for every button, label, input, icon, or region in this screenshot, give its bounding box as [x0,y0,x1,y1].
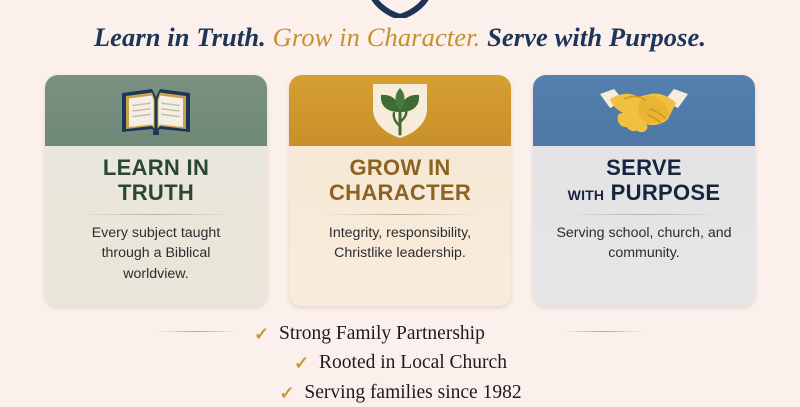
card-title-line-1: GROW IN [349,155,450,180]
card-description: Every subject taught through a Biblical … [68,223,244,283]
card-title: GROW IN CHARACTER [329,156,471,205]
card-title: SERVE WITH PURPOSE [568,156,721,205]
checklist-item-label: Serving families since 1982 [304,379,521,407]
card-body: SERVE WITH PURPOSE Serving school, churc… [533,146,755,306]
card-title-line-1: SERVE [606,155,682,180]
card-description: Serving school, church, and community. [556,223,732,263]
card-title-line-1: LEARN IN [103,155,209,180]
card-title: LEARN IN TRUTH [103,156,209,205]
tagline-part-2: Grow in Character. [273,22,481,52]
tagline-part-1: Learn in Truth. [94,22,266,52]
card-body: LEARN IN TRUTH Every subject taught thro… [45,146,267,306]
card-header [289,75,511,146]
check-icon: ✓ [278,384,295,401]
shield-logo-icon [367,0,433,18]
card-title-line-2: TRUTH [118,180,194,205]
card-title-line-2: CHARACTER [329,180,471,205]
check-icon: ✓ [293,355,310,372]
card-divider [77,214,235,215]
card-title-small: WITH [568,187,605,203]
checklist-item-label: Strong Family Partnership [279,320,547,348]
checklist-item: ✓ Strong Family Partnership [253,320,547,348]
logo [0,0,800,14]
card-serve-with-purpose[interactable]: SERVE WITH PURPOSE Serving school, churc… [533,75,755,306]
card-header [45,75,267,146]
divider-rule-left [157,331,237,332]
checklist-item-label: Rooted in Local Church [319,349,507,377]
value-cards: LEARN IN TRUTH Every subject taught thro… [45,75,755,306]
card-description: Integrity, responsibility, Christlike le… [312,223,488,263]
card-grow-in-character[interactable]: GROW IN CHARACTER Integrity, responsibil… [289,75,511,306]
card-body: GROW IN CHARACTER Integrity, responsibil… [289,146,511,306]
open-book-icon [118,85,194,137]
card-header [533,75,755,146]
tagline-part-3: Serve with Purpose. [487,22,706,52]
checklist-item: ✓ Rooted in Local Church [293,349,507,377]
handshake-icon [598,85,690,137]
check-icon: ✓ [253,326,270,343]
card-divider [321,214,479,215]
card-divider [565,214,723,215]
card-learn-in-truth[interactable]: LEARN IN TRUTH Every subject taught thro… [45,75,267,306]
shield-sprout-icon [369,82,431,140]
tagline: Learn in Truth. Grow in Character. Serve… [0,22,800,53]
card-title-line-2: PURPOSE [611,180,721,205]
checklist-item: ✓ Serving families since 1982 [278,379,521,407]
checklist: ✓ Strong Family Partnership ✓ Rooted in … [0,320,800,407]
divider-rule-right [563,331,643,332]
